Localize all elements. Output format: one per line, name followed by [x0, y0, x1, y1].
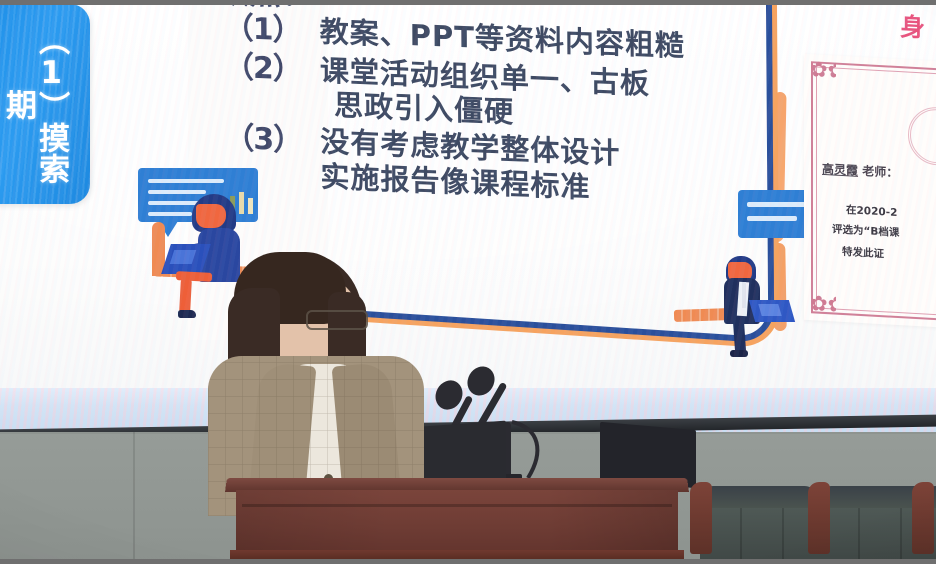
seat-seam: [740, 508, 742, 564]
seat-seam: [782, 508, 784, 564]
slide-stage-tab-label: （1）摸索期: [1, 14, 67, 194]
seat-seam: [900, 508, 902, 564]
letterbox-top: [0, 0, 936, 5]
seat-armrest: [808, 482, 830, 554]
wall-seam: [133, 432, 135, 564]
screenshot-frame: 缺点： （1） 教案、PPT等资料内容粗糙 （2） 课堂活动组织单一、古板 思政…: [0, 0, 936, 564]
letterbox-bottom: [0, 559, 936, 564]
seat-armrest: [912, 482, 934, 554]
microphone-cable: [510, 418, 560, 482]
presenter-glasses: [306, 310, 368, 330]
auditorium-seat: [922, 472, 936, 564]
podium: [226, 478, 688, 564]
seat-seam: [858, 508, 860, 564]
seat-backrest: [700, 486, 818, 564]
podium-shading: [236, 490, 678, 552]
seat-armrest: [690, 482, 712, 554]
seat-headroll: [700, 486, 818, 508]
presenter-figure: [210, 252, 420, 512]
podium-trim-groove: [242, 504, 672, 507]
